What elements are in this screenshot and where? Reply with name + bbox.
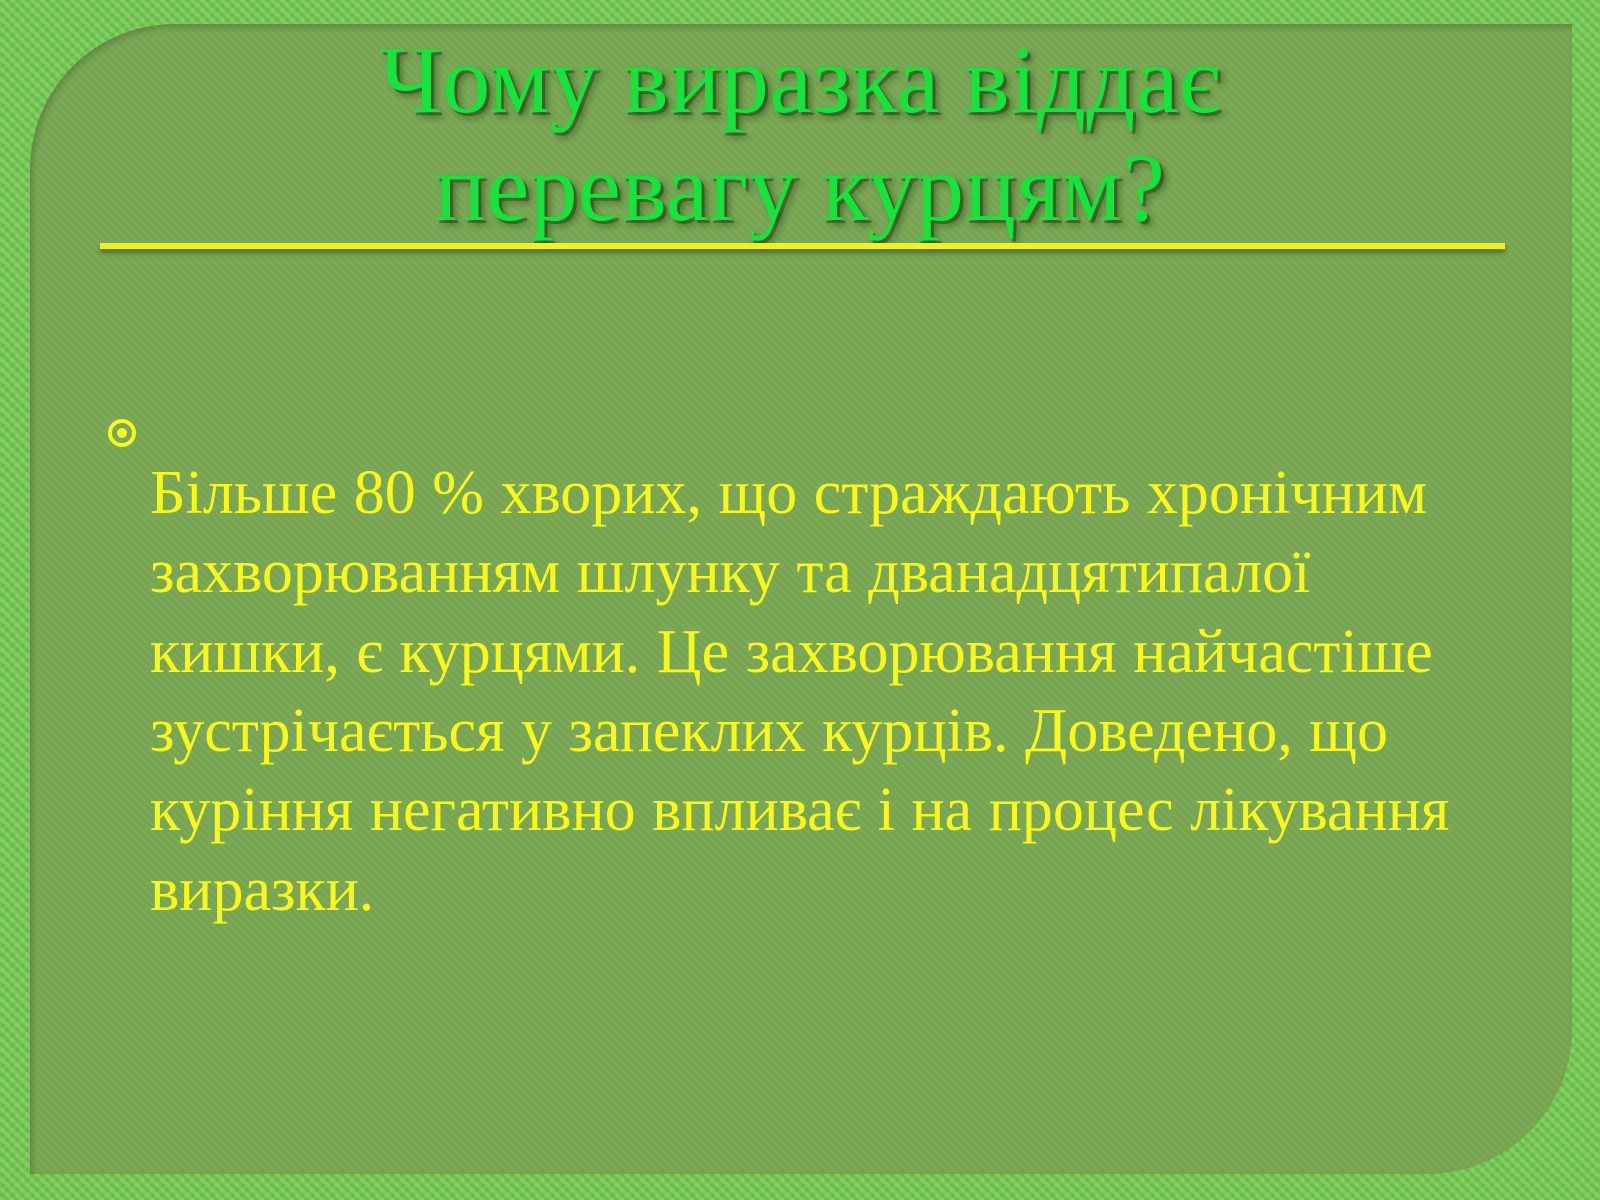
ring-dot-bullet-icon	[108, 414, 150, 454]
slide-canvas: Чому виразка віддає перевагу курцям? Біл…	[0, 0, 1600, 1200]
slide-body-block: Більше 80 % хворих, що страждають хроніч…	[108, 392, 1468, 992]
bullet-item-label: Більше 80 % хворих, що страждають хроніч…	[150, 454, 1468, 930]
list-item: Більше 80 % хворих, що страждають хроніч…	[108, 392, 1468, 992]
page-title: Чому виразка віддає перевагу курцям?	[90, 26, 1510, 241]
title-underline-divider	[100, 243, 1505, 249]
slide-title-block: Чому виразка віддає перевагу курцям?	[90, 26, 1510, 241]
